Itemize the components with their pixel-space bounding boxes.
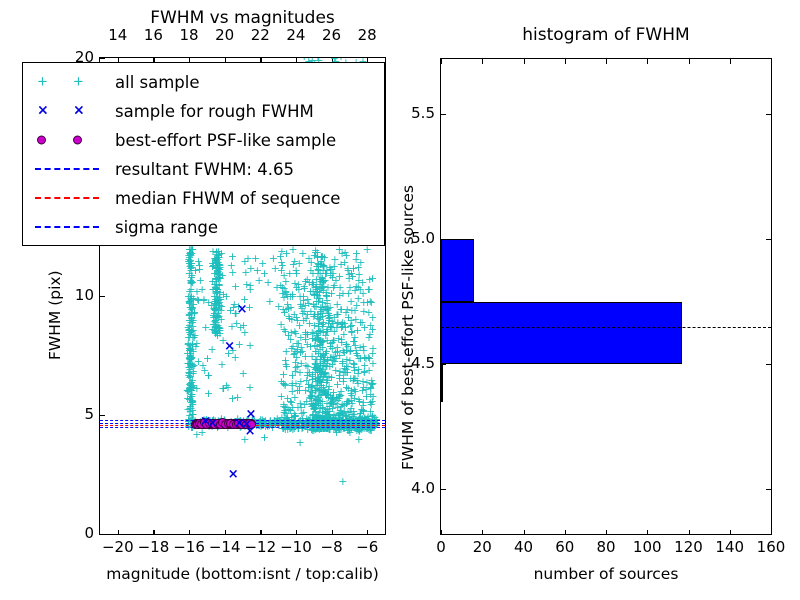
- scatter-point-all-sample: +: [214, 251, 223, 260]
- scatter-point-all-sample: +: [288, 381, 297, 390]
- scatter-point-all-sample: +: [279, 293, 288, 302]
- scatter-point-all-sample: +: [183, 359, 192, 368]
- scatter-point-all-sample: +: [315, 340, 324, 349]
- scatter-point-all-sample: +: [188, 318, 197, 327]
- scatter-point-all-sample: +: [359, 401, 368, 410]
- scatter-point-all-sample: +: [187, 303, 196, 312]
- scatter-point-all-sample: +: [211, 327, 220, 336]
- scatter-point-all-sample: +: [186, 318, 195, 327]
- scatter-point-all-sample: +: [224, 349, 233, 358]
- scatter-point-all-sample: +: [198, 285, 207, 294]
- left-xtick-bottom--20: −20: [100, 538, 136, 556]
- scatter-point-all-sample: +: [349, 376, 358, 385]
- scatter-point-all-sample: +: [186, 278, 195, 287]
- scatter-point-all-sample: +: [185, 310, 194, 319]
- scatter-point-all-sample: +: [329, 319, 338, 328]
- scatter-point-all-sample: +: [188, 397, 197, 406]
- tickmark: [565, 530, 566, 535]
- scatter-point-all-sample: +: [312, 290, 321, 299]
- scatter-point-all-sample: +: [218, 384, 227, 393]
- scatter-point-all-sample: +: [303, 295, 312, 304]
- scatter-point-all-sample: +: [322, 362, 331, 371]
- scatter-point-all-sample: +: [318, 397, 327, 406]
- scatter-point-all-sample: +: [322, 362, 331, 371]
- scatter-point-all-sample: +: [296, 438, 305, 447]
- tickmark: [524, 530, 525, 535]
- scatter-point-all-sample: +: [184, 363, 193, 372]
- scatter-point-all-sample: +: [283, 300, 292, 309]
- scatter-point-all-sample: +: [211, 306, 220, 315]
- scatter-point-all-sample: +: [286, 406, 295, 415]
- scatter-point-all-sample: +: [319, 261, 328, 270]
- scatter-point-all-sample: +: [211, 322, 220, 331]
- scatter-point-all-sample: +: [350, 333, 359, 342]
- scatter-point-all-sample: +: [184, 292, 193, 301]
- scatter-point-all-sample: +: [345, 407, 354, 416]
- scatter-point-all-sample: +: [312, 411, 321, 420]
- scatter-point-all-sample: +: [321, 349, 330, 358]
- left-yaxis-label: FWHM (pix): [46, 270, 64, 360]
- scatter-point-all-sample: +: [322, 391, 331, 400]
- scatter-point-all-sample: +: [337, 320, 346, 329]
- scatter-point-all-sample: +: [318, 278, 327, 287]
- scatter-point-all-sample: +: [207, 301, 216, 310]
- scatter-point-all-sample: +: [214, 253, 223, 262]
- scatter-point-all-sample: +: [298, 347, 307, 356]
- scatter-point-all-sample: +: [335, 390, 344, 399]
- scatter-point-all-sample: +: [315, 341, 324, 350]
- scatter-point-all-sample: +: [185, 292, 194, 301]
- scatter-point-all-sample: +: [185, 395, 194, 404]
- left-xtick-top-22: 22: [247, 26, 273, 44]
- scatter-point-all-sample: +: [349, 374, 358, 383]
- scatter-point-all-sample: +: [367, 298, 376, 307]
- scatter-point-all-sample: +: [326, 271, 335, 280]
- scatter-point-all-sample: +: [319, 424, 328, 433]
- scatter-point-all-sample: +: [328, 414, 337, 423]
- scatter-point-all-sample: +: [336, 391, 345, 400]
- scatter-point-all-sample: +: [279, 379, 288, 388]
- scatter-point-all-sample: +: [278, 261, 287, 270]
- scatter-point-all-sample: +: [187, 410, 196, 419]
- scatter-point-all-sample: +: [367, 400, 376, 409]
- scatter-point-all-sample: +: [332, 323, 341, 332]
- scatter-point-all-sample: +: [243, 254, 252, 263]
- right-xtick-60: 60: [547, 538, 583, 556]
- scatter-point-all-sample: +: [354, 263, 363, 272]
- scatter-point-all-sample: +: [350, 410, 359, 419]
- scatter-point-all-sample: +: [316, 424, 325, 433]
- scatter-point-all-sample: +: [240, 435, 249, 444]
- scatter-point-all-sample: +: [312, 297, 321, 306]
- scatter-point-all-sample: +: [187, 249, 196, 258]
- scatter-point-all-sample: +: [308, 372, 317, 381]
- scatter-point-all-sample: +: [215, 301, 224, 310]
- scatter-point-all-sample: +: [212, 287, 221, 296]
- scatter-point-all-sample: +: [310, 392, 319, 401]
- scatter-point-all-sample: +: [322, 399, 331, 408]
- scatter-point-all-sample: +: [314, 265, 323, 274]
- scatter-point-all-sample: +: [279, 408, 288, 417]
- scatter-point-all-sample: +: [188, 398, 197, 407]
- scatter-point-all-sample: +: [189, 367, 198, 376]
- scatter-point-all-sample: +: [187, 390, 196, 399]
- scatter-point-all-sample: +: [341, 308, 350, 317]
- scatter-point-all-sample: +: [329, 388, 338, 397]
- scatter-point-all-sample: +: [245, 341, 254, 350]
- scatter-point-all-sample: +: [186, 330, 195, 339]
- scatter-point-all-sample: +: [364, 333, 373, 342]
- scatter-point-all-sample: +: [323, 407, 332, 416]
- scatter-point-all-sample: +: [290, 327, 299, 336]
- scatter-point-all-sample: +: [183, 349, 192, 358]
- right-xtick-40: 40: [506, 538, 542, 556]
- scatter-point-all-sample: +: [359, 407, 368, 416]
- scatter-point-all-sample: +: [288, 371, 297, 380]
- scatter-point-all-sample: +: [184, 368, 193, 377]
- scatter-point-all-sample: +: [317, 305, 326, 314]
- scatter-point-all-sample: +: [296, 348, 305, 357]
- scatter-point-all-sample: +: [186, 251, 195, 260]
- scatter-point-all-sample: +: [347, 404, 356, 413]
- scatter-point-all-sample: +: [347, 399, 356, 408]
- legend-entry-1: ××sample for rough FWHM: [29, 98, 314, 124]
- scatter-point-all-sample: +: [363, 245, 372, 254]
- scatter-point-all-sample: +: [317, 378, 326, 387]
- scatter-point-all-sample: +: [283, 292, 292, 301]
- scatter-point-all-sample: +: [329, 336, 338, 345]
- scatter-point-all-sample: +: [336, 58, 345, 61]
- scatter-point-all-sample: +: [214, 323, 223, 332]
- scatter-point-all-sample: +: [183, 386, 192, 395]
- scatter-point-all-sample: +: [235, 340, 244, 349]
- scatter-point-all-sample: +: [214, 247, 223, 256]
- scatter-point-all-sample: +: [335, 283, 344, 292]
- scatter-point-all-sample: +: [188, 362, 197, 371]
- scatter-point-all-sample: +: [239, 321, 248, 330]
- scatter-point-all-sample: +: [356, 318, 365, 327]
- scatter-point-all-sample: +: [321, 302, 330, 311]
- scatter-point-all-sample: +: [186, 345, 195, 354]
- scatter-point-all-sample: +: [314, 266, 323, 275]
- scatter-point-all-sample: +: [314, 386, 323, 395]
- scatter-point-all-sample: +: [316, 277, 325, 286]
- scatter-point-all-sample: +: [367, 379, 376, 388]
- scatter-point-all-sample: +: [211, 305, 220, 314]
- scatter-point-all-sample: +: [328, 360, 337, 369]
- scatter-point-all-sample: +: [360, 361, 369, 370]
- scatter-point-all-sample: +: [212, 280, 221, 289]
- scatter-point-all-sample: +: [230, 300, 239, 309]
- scatter-point-all-sample: +: [344, 384, 353, 393]
- scatter-point-all-sample: +: [187, 303, 196, 312]
- scatter-point-all-sample: +: [315, 366, 324, 375]
- scatter-point-all-sample: +: [215, 273, 224, 282]
- scatter-point-all-sample: +: [332, 428, 341, 437]
- scatter-point-all-sample: +: [208, 262, 217, 271]
- scatter-point-all-sample: +: [278, 289, 287, 298]
- tickmark: [730, 59, 731, 64]
- tickmark: [771, 530, 772, 535]
- scatter-point-all-sample: +: [279, 305, 288, 314]
- scatter-point-all-sample: +: [189, 410, 198, 419]
- scatter-point-all-sample: +: [335, 291, 344, 300]
- scatter-point-all-sample: +: [287, 398, 296, 407]
- scatter-point-all-sample: +: [320, 355, 329, 364]
- scatter-point-all-sample: +: [333, 318, 342, 327]
- scatter-point-all-sample: +: [215, 293, 224, 302]
- scatter-point-all-sample: +: [214, 280, 223, 289]
- scatter-point-all-sample: +: [306, 287, 315, 296]
- tickmark: [441, 239, 446, 240]
- scatter-point-all-sample: +: [329, 424, 338, 433]
- scatter-point-all-sample: +: [246, 264, 255, 273]
- scatter-point-all-sample: +: [307, 280, 316, 289]
- scatter-point-all-sample: +: [334, 409, 343, 418]
- scatter-point-all-sample: +: [356, 409, 365, 418]
- scatter-point-all-sample: +: [311, 386, 320, 395]
- scatter-point-all-sample: +: [288, 403, 297, 412]
- scatter-point-all-sample: +: [186, 372, 195, 381]
- tickmark: [565, 59, 566, 64]
- scatter-point-all-sample: +: [208, 325, 217, 334]
- scatter-point-all-sample: +: [186, 250, 195, 259]
- scatter-point-all-sample: +: [291, 367, 300, 376]
- scatter-point-all-sample: +: [186, 390, 195, 399]
- scatter-point-all-sample: +: [337, 323, 346, 332]
- right-xtick-80: 80: [588, 538, 624, 556]
- scatter-point-all-sample: +: [311, 374, 320, 383]
- scatter-point-all-sample: +: [330, 327, 339, 336]
- scatter-point-all-sample: +: [317, 424, 326, 433]
- scatter-point-all-sample: +: [209, 311, 218, 320]
- scatter-point-all-sample: +: [350, 385, 359, 394]
- scatter-point-all-sample: +: [313, 395, 322, 404]
- scatter-point-all-sample: +: [245, 303, 254, 312]
- legend-symbol-dashed-line: [29, 185, 115, 211]
- scatter-point-all-sample: +: [321, 407, 330, 416]
- scatter-point-all-sample: +: [288, 245, 297, 254]
- scatter-point-all-sample: +: [310, 291, 319, 300]
- scatter-point-all-sample: +: [343, 264, 352, 273]
- scatter-point-all-sample: +: [283, 425, 292, 434]
- scatter-point-all-sample: +: [314, 349, 323, 358]
- scatter-point-all-sample: +: [187, 354, 196, 363]
- scatter-point-all-sample: +: [312, 363, 321, 372]
- scatter-point-all-sample: +: [328, 273, 337, 282]
- right-xtick-160: 160: [753, 538, 789, 556]
- scatter-point-all-sample: +: [184, 255, 193, 264]
- scatter-point-all-sample: +: [190, 309, 199, 318]
- scatter-point-all-sample: +: [349, 359, 358, 368]
- scatter-point-all-sample: +: [361, 354, 370, 363]
- scatter-point-all-sample: +: [316, 370, 325, 379]
- scatter-point-all-sample: +: [345, 270, 354, 279]
- right-ytick-5.5: 5.5: [389, 104, 435, 122]
- scatter-point-all-sample: +: [276, 252, 285, 261]
- scatter-point-all-sample: +: [313, 331, 322, 340]
- scatter-point-all-sample: +: [209, 261, 218, 270]
- scatter-point-all-sample: +: [310, 251, 319, 260]
- scatter-point-all-sample: +: [187, 277, 196, 286]
- scatter-point-all-sample: +: [231, 282, 240, 291]
- tickmark: [100, 534, 105, 535]
- scatter-point-all-sample: +: [325, 402, 334, 411]
- legend-box: ++all sample××sample for rough FWHMbest-…: [22, 62, 385, 246]
- scatter-point-all-sample: +: [355, 414, 364, 423]
- scatter-point-all-sample: +: [255, 276, 264, 285]
- scatter-point-all-sample: +: [188, 376, 197, 385]
- scatter-point-all-sample: +: [316, 307, 325, 316]
- scatter-point-all-sample: +: [328, 338, 337, 347]
- scatter-point-all-sample: +: [320, 357, 329, 366]
- scatter-point-all-sample: +: [187, 245, 196, 254]
- scatter-point-all-sample: +: [189, 347, 198, 356]
- scatter-point-all-sample: +: [368, 344, 377, 353]
- scatter-point-all-sample: +: [332, 354, 341, 363]
- left-xtick-top-18: 18: [176, 26, 202, 44]
- scatter-point-all-sample: +: [246, 285, 255, 294]
- scatter-point-all-sample: +: [355, 397, 364, 406]
- right-plot-area: [441, 59, 771, 534]
- scatter-point-all-sample: +: [281, 327, 290, 336]
- scatter-point-all-sample: +: [223, 383, 232, 392]
- scatter-point-all-sample: +: [282, 290, 291, 299]
- scatter-point-all-sample: +: [294, 285, 303, 294]
- scatter-point-all-sample: +: [185, 355, 194, 364]
- scatter-point-all-sample: +: [210, 269, 219, 278]
- scatter-point-all-sample: +: [213, 313, 222, 322]
- scatter-point-all-sample: +: [288, 379, 297, 388]
- scatter-point-all-sample: +: [354, 354, 363, 363]
- scatter-point-all-sample: +: [323, 359, 332, 368]
- scatter-point-all-sample: +: [314, 319, 323, 328]
- scatter-point-all-sample: +: [338, 318, 347, 327]
- scatter-point-all-sample: +: [183, 323, 192, 332]
- scatter-point-all-sample: +: [340, 258, 349, 267]
- scatter-point-all-sample: +: [301, 335, 310, 344]
- scatter-point-all-sample: +: [296, 333, 305, 342]
- scatter-point-all-sample: +: [185, 369, 194, 378]
- scatter-point-all-sample: +: [282, 305, 291, 314]
- scatter-point-all-sample: +: [342, 365, 351, 374]
- scatter-point-all-sample: +: [324, 319, 333, 328]
- scatter-point-all-sample: +: [277, 392, 286, 401]
- scatter-point-all-sample: +: [328, 269, 337, 278]
- scatter-point-all-sample: +: [313, 362, 322, 371]
- scatter-point-all-sample: +: [308, 424, 317, 433]
- tickmark: [689, 59, 690, 64]
- circle-icon: [73, 136, 82, 145]
- scatter-point-all-sample: +: [211, 264, 220, 273]
- scatter-point-all-sample: +: [186, 303, 195, 312]
- scatter-point-all-sample: +: [330, 313, 339, 322]
- scatter-point-all-sample: +: [352, 346, 361, 355]
- scatter-point-all-sample: +: [198, 428, 207, 437]
- scatter-point-all-sample: +: [212, 259, 221, 268]
- scatter-point-all-sample: +: [212, 274, 221, 283]
- scatter-point-all-sample: +: [339, 346, 348, 355]
- plus-icon: +: [37, 78, 48, 87]
- scatter-point-all-sample: +: [271, 264, 280, 273]
- scatter-point-all-sample: +: [211, 256, 220, 265]
- scatter-point-all-sample: +: [318, 312, 327, 321]
- scatter-point-all-sample: +: [288, 387, 297, 396]
- scatter-point-all-sample: +: [363, 414, 372, 423]
- scatter-point-all-sample: +: [187, 390, 196, 399]
- scatter-point-all-sample: +: [309, 280, 318, 289]
- scatter-point-all-sample: +: [210, 317, 219, 326]
- scatter-point-all-sample: +: [313, 314, 322, 323]
- scatter-point-all-sample: +: [318, 322, 327, 331]
- scatter-point-all-sample: +: [325, 411, 334, 420]
- scatter-point-all-sample: +: [183, 340, 192, 349]
- scatter-point-all-sample: +: [324, 311, 333, 320]
- scatter-point-all-sample: +: [338, 400, 347, 409]
- scatter-point-all-sample: +: [321, 390, 330, 399]
- scatter-point-all-sample: +: [354, 276, 363, 285]
- scatter-point-all-sample: +: [365, 330, 374, 339]
- legend-symbol-dot: [29, 127, 115, 153]
- scatter-point-all-sample: +: [231, 309, 240, 318]
- scatter-point-all-sample: +: [187, 309, 196, 318]
- scatter-point-all-sample: +: [365, 366, 374, 375]
- scatter-point-all-sample: +: [351, 387, 360, 396]
- scatter-point-all-sample: +: [368, 359, 377, 368]
- scatter-point-all-sample: +: [315, 337, 324, 346]
- scatter-point-all-sample: +: [307, 383, 316, 392]
- scatter-point-all-sample: +: [319, 370, 328, 379]
- scatter-point-all-sample: +: [352, 282, 361, 291]
- scatter-point-all-sample: +: [322, 291, 331, 300]
- scatter-point-all-sample: +: [342, 383, 351, 392]
- scatter-point-all-sample: +: [359, 424, 368, 433]
- scatter-point-all-sample: +: [188, 278, 197, 287]
- scatter-point-all-sample: +: [338, 411, 347, 420]
- scatter-point-all-sample: +: [311, 359, 320, 368]
- scatter-point-all-sample: +: [209, 304, 218, 313]
- scatter-point-all-sample: +: [214, 260, 223, 269]
- scatter-point-all-sample: +: [260, 433, 269, 442]
- scatter-point-all-sample: +: [192, 339, 201, 348]
- scatter-point-all-sample: +: [187, 271, 196, 280]
- scatter-point-all-sample: +: [340, 407, 349, 416]
- legend-entry-5: sigma range: [29, 214, 218, 240]
- scatter-point-all-sample: +: [185, 354, 194, 363]
- scatter-point-all-sample: +: [351, 374, 360, 383]
- scatter-point-all-sample: +: [187, 313, 196, 322]
- scatter-point-all-sample: +: [251, 254, 260, 263]
- scatter-point-all-sample: +: [353, 376, 362, 385]
- scatter-point-all-sample: +: [356, 354, 365, 363]
- scatter-point-all-sample: +: [354, 395, 363, 404]
- scatter-point-all-sample: +: [352, 349, 361, 358]
- scatter-point-all-sample: +: [316, 260, 325, 269]
- scatter-point-all-sample: +: [319, 262, 328, 271]
- scatter-point-all-sample: +: [291, 379, 300, 388]
- left-xtick-bottom--6: −6: [349, 538, 385, 556]
- scatter-point-all-sample: +: [240, 295, 249, 304]
- scatter-point-all-sample: +: [213, 288, 222, 297]
- scatter-point-all-sample: +: [211, 329, 220, 338]
- scatter-point-all-sample: +: [317, 303, 326, 312]
- scatter-point-all-sample: +: [315, 408, 324, 417]
- scatter-point-all-sample: +: [340, 248, 349, 257]
- scatter-point-all-sample: +: [213, 264, 222, 273]
- scatter-point-all-sample: +: [232, 319, 241, 328]
- scatter-point-all-sample: +: [303, 362, 312, 371]
- scatter-point-all-sample: +: [184, 371, 193, 380]
